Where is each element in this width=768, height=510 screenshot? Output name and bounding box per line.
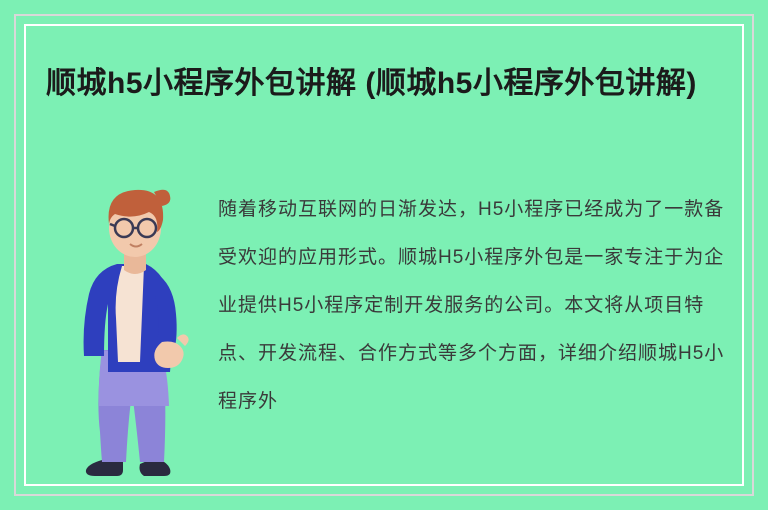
person-illustration: [62, 172, 210, 482]
page-title: 顺城h5小程序外包讲解 (顺城h5小程序外包讲解): [46, 62, 736, 106]
article-body: 随着移动互联网的日渐发达，H5小程序已经成为了一款备受欢迎的应用形式。顺城H5小…: [218, 186, 742, 426]
document-page: 顺城h5小程序外包讲解 (顺城h5小程序外包讲解): [0, 0, 768, 510]
